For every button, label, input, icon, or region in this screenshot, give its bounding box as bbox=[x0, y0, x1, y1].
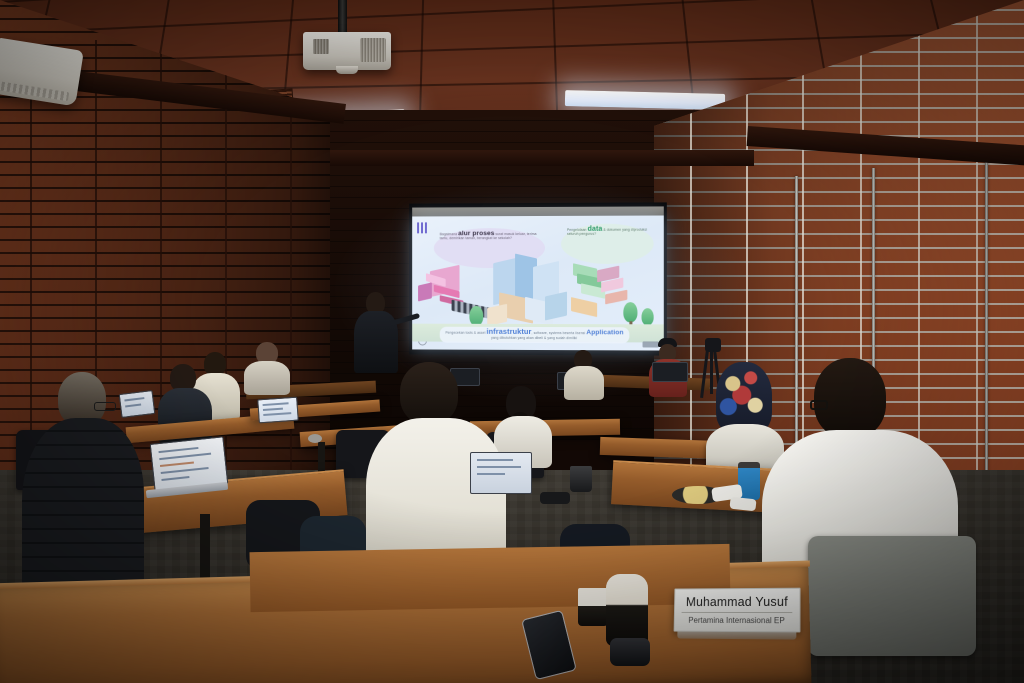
nameplate-divider bbox=[681, 612, 792, 613]
presentation-slide[interactable]: Bagaimana alur proses surat masuk keluar… bbox=[412, 216, 664, 351]
camera-tripod-leg-3 bbox=[710, 350, 713, 394]
ceramic-carafe[interactable] bbox=[606, 574, 648, 646]
chair-front-right[interactable] bbox=[808, 536, 976, 656]
projector bbox=[303, 32, 391, 70]
black-remote[interactable] bbox=[610, 638, 650, 666]
table-foreground-2 bbox=[250, 544, 731, 612]
front-right-head bbox=[814, 358, 886, 438]
ceramic-cup[interactable] bbox=[578, 588, 608, 626]
bar-chart-icon bbox=[417, 222, 429, 233]
glasses-right-icon bbox=[810, 400, 828, 410]
nameplate-stand bbox=[677, 631, 796, 640]
bubble-right-text: Pengelolaan data & dokumen yang diproduk… bbox=[567, 228, 648, 237]
tree-icon-right2 bbox=[642, 308, 654, 325]
laptop-left-1[interactable] bbox=[119, 390, 156, 418]
center-back-body bbox=[564, 366, 604, 400]
bubble-left-text: Bagaimana alur proses surat masuk keluar… bbox=[440, 232, 539, 241]
nameplate-name: Muhammad Yusuf bbox=[686, 595, 788, 609]
center-white-head bbox=[400, 362, 458, 424]
tree-icon-right bbox=[623, 302, 637, 322]
table-leg-front-1 bbox=[200, 514, 210, 586]
slide-footer-logo bbox=[643, 341, 659, 347]
mouse[interactable] bbox=[308, 434, 322, 443]
nameplate-card: Muhammad Yusuf Pertamina Internasional E… bbox=[674, 588, 801, 633]
laptop-left-2[interactable] bbox=[257, 397, 299, 424]
nameplate: Muhammad Yusuf Pertamina Internasional E… bbox=[674, 588, 801, 633]
slide-banner-text: Pengecekan tools & asset infrastruktur, … bbox=[445, 330, 625, 340]
wall-soffit-back bbox=[330, 150, 754, 166]
projector-lens-icon bbox=[336, 66, 358, 74]
projection-screen[interactable]: Bagaimana alur proses surat masuk keluar… bbox=[409, 202, 667, 355]
meeting-room-scene: Bagaimana alur proses surat masuk keluar… bbox=[0, 0, 1024, 683]
slide-banner: Pengecekan tools & asset infrastruktur, … bbox=[440, 327, 630, 343]
remote-middle[interactable] bbox=[540, 492, 570, 504]
napkin-2 bbox=[729, 497, 756, 512]
laptop-center-white[interactable] bbox=[470, 452, 532, 494]
glasses-icon bbox=[94, 402, 116, 411]
bald-body bbox=[244, 361, 290, 395]
black-cup-middle[interactable] bbox=[570, 466, 592, 492]
laptop-red-cap[interactable] bbox=[652, 362, 688, 382]
projector-mount-pole bbox=[338, 0, 347, 34]
nameplate-organization: Pertamina Internasional EP bbox=[688, 616, 784, 625]
